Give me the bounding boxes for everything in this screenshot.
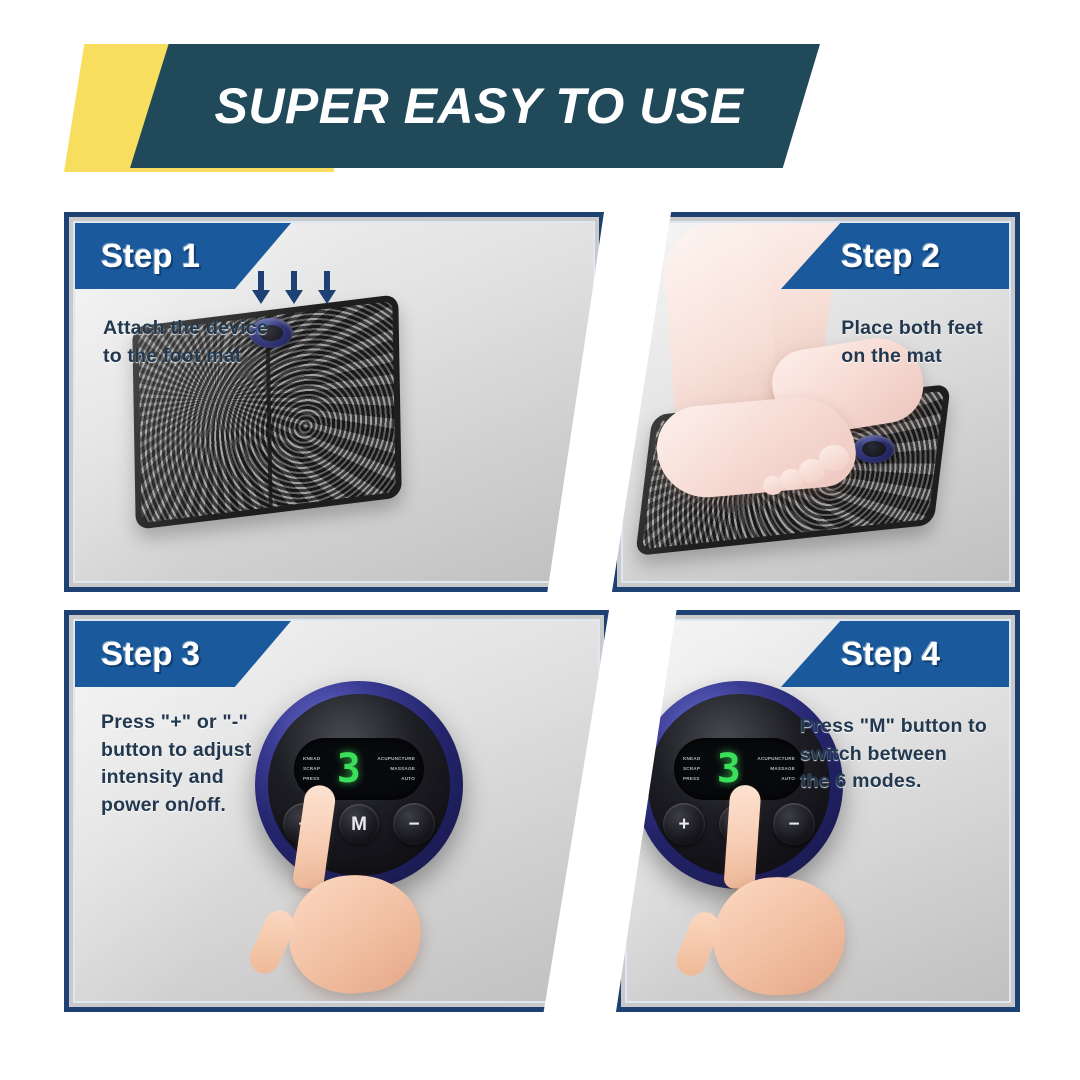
device-puck bbox=[853, 435, 895, 463]
mode-button[interactable]: M bbox=[339, 804, 379, 844]
step-1-caption: Attach the deviceto the foot mat bbox=[103, 315, 268, 370]
step-panel-3-inner: KNEAD SCRAP PRESS 3 ACUPUNCTURE MASSAGE … bbox=[73, 619, 600, 1003]
step-tab-3-label: Step 3 bbox=[101, 635, 200, 673]
arrow-down-icon bbox=[284, 271, 304, 305]
lcd-intensity-value: 3 bbox=[717, 749, 741, 789]
lcd-label: PRESS bbox=[303, 776, 320, 781]
step-panel-1: Step 1 Attach the deviceto the foot mat bbox=[64, 212, 604, 592]
lcd-label: ACUPUNCTURE bbox=[377, 756, 415, 761]
lcd-labels-right: ACUPUNCTURE MASSAGE AUTO bbox=[377, 756, 415, 782]
toe bbox=[763, 476, 783, 495]
plus-button[interactable]: + bbox=[663, 803, 705, 845]
lcd-label: SCRAP bbox=[683, 766, 700, 771]
lcd-label: SCRAP bbox=[303, 766, 320, 771]
banner-teal-shape: SUPER EASY TO USE bbox=[130, 44, 820, 168]
lcd-label: KNEAD bbox=[303, 756, 320, 761]
step-3-caption: Press "+" or "-"button to adjustintensit… bbox=[101, 709, 252, 820]
lcd-label: KNEAD bbox=[683, 756, 700, 761]
arrow-down-group bbox=[251, 271, 337, 305]
step-panel-2-inner: Step 2 Place both feeton the mat bbox=[621, 221, 1011, 583]
step-panel-4: KNEAD SCRAP PRESS 3 ACUPUNCTURE MASSAGE … bbox=[616, 610, 1020, 1012]
step-2-caption: Place both feeton the mat bbox=[841, 315, 983, 370]
step-tab-4-label: Step 4 bbox=[841, 635, 940, 673]
step-panel-4-inner: KNEAD SCRAP PRESS 3 ACUPUNCTURE MASSAGE … bbox=[625, 619, 1011, 1003]
lcd-intensity-value: 3 bbox=[337, 749, 361, 789]
toe bbox=[780, 469, 803, 490]
lcd-label: AUTO bbox=[781, 776, 795, 781]
step-panel-3: KNEAD SCRAP PRESS 3 ACUPUNCTURE MASSAGE … bbox=[64, 610, 609, 1012]
lcd-label: PRESS bbox=[683, 776, 700, 781]
lcd-label: ACUPUNCTURE bbox=[757, 756, 795, 761]
lcd-labels-left: KNEAD SCRAP PRESS bbox=[683, 756, 700, 782]
controller-device-3: KNEAD SCRAP PRESS 3 ACUPUNCTURE MASSAGE … bbox=[255, 681, 463, 889]
infographic-root: SUPER EASY TO USE bbox=[0, 0, 1080, 1080]
minus-button[interactable]: − bbox=[773, 803, 815, 845]
step-tab-2-label: Step 2 bbox=[841, 237, 940, 275]
minus-button[interactable]: − bbox=[393, 803, 435, 845]
lcd-label: AUTO bbox=[401, 776, 415, 781]
step-tab-1-label: Step 1 bbox=[101, 237, 200, 275]
step-4-caption: Press "M" button toswitch betweenthe 6 m… bbox=[800, 713, 987, 796]
lcd-labels-left: KNEAD SCRAP PRESS bbox=[303, 756, 320, 782]
header-banner: SUPER EASY TO USE bbox=[0, 44, 1080, 174]
lcd-labels-right: ACUPUNCTURE MASSAGE AUTO bbox=[757, 756, 795, 782]
lcd-label: MASSAGE bbox=[770, 766, 795, 771]
lcd-label: MASSAGE bbox=[390, 766, 415, 771]
step-panel-1-inner: Step 1 Attach the deviceto the foot mat bbox=[73, 221, 595, 583]
controller-face: KNEAD SCRAP PRESS 3 ACUPUNCTURE MASSAGE … bbox=[268, 694, 450, 876]
arrow-down-icon bbox=[317, 271, 337, 305]
steps-grid: Step 1 Attach the deviceto the foot mat bbox=[64, 212, 1020, 1012]
arrow-down-icon bbox=[251, 271, 271, 305]
step-panel-2: Step 2 Place both feeton the mat bbox=[612, 212, 1020, 592]
page-title: SUPER EASY TO USE bbox=[214, 77, 743, 135]
